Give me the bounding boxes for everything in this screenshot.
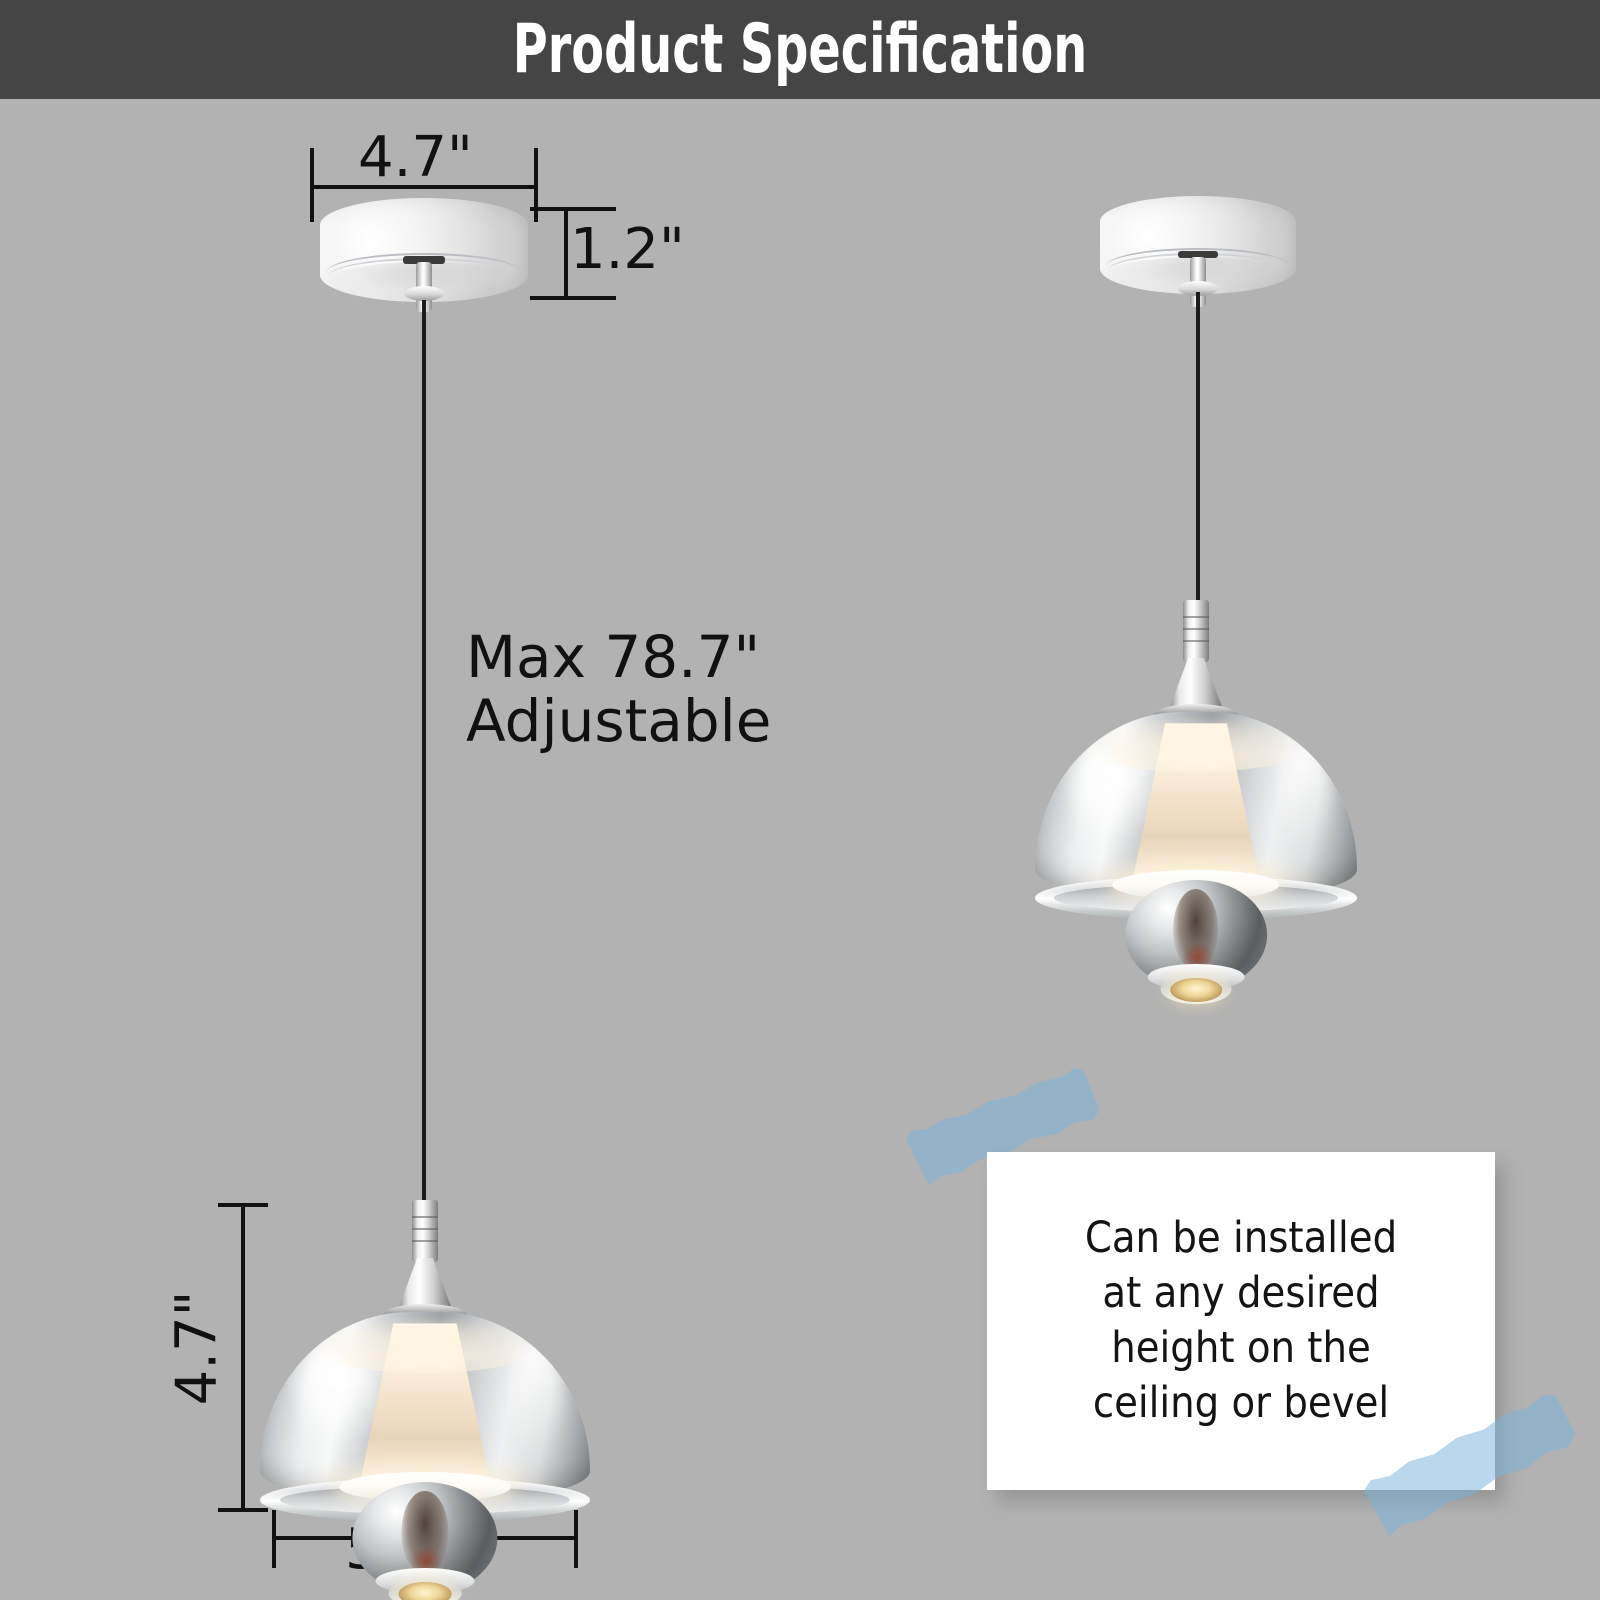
light-lens bbox=[399, 1582, 452, 1600]
dome-highlight-right bbox=[1283, 742, 1328, 859]
info-card: Can be installed at any desired height o… bbox=[987, 1152, 1495, 1490]
light-lens bbox=[1170, 978, 1222, 1002]
pendant-lamp-right bbox=[1035, 600, 1357, 918]
dome-highlight-left bbox=[1074, 750, 1126, 859]
dim-label-canopy-height: 1.2" bbox=[570, 222, 685, 278]
dim-line-shade-height bbox=[241, 1203, 245, 1512]
dim-tick-canopy-height-bottom bbox=[530, 296, 616, 300]
dim-label-canopy-width: 4.7" bbox=[358, 130, 473, 186]
info-card-text: Can be installed at any desired height o… bbox=[987, 1211, 1495, 1431]
page-title: Product Specification bbox=[176, 0, 1424, 99]
product-specification-page: Product Specification 4.7" 1.2" Max 78.7… bbox=[0, 0, 1600, 1600]
hanging-cord-left bbox=[422, 300, 426, 1220]
dim-label-drop-length-line1: Max 78.7" bbox=[466, 628, 760, 686]
dome-highlight-right bbox=[514, 1342, 560, 1460]
lamp-stem bbox=[1183, 600, 1209, 662]
dim-tick-canopy-height-top bbox=[530, 207, 616, 211]
ceiling-canopy-right bbox=[1100, 196, 1296, 294]
dim-line-canopy-height bbox=[564, 207, 568, 300]
lamp-stem bbox=[412, 1200, 438, 1262]
dim-label-drop-length-line2: Adjustable bbox=[466, 692, 771, 750]
pendant-lamp-left bbox=[260, 1200, 590, 1520]
dome-highlight-left bbox=[300, 1350, 353, 1460]
hanging-cord-right bbox=[1196, 292, 1200, 612]
ceiling-canopy-left bbox=[320, 198, 528, 302]
dim-label-shade-height: 4.7" bbox=[169, 1291, 225, 1406]
header-bar: Product Specification bbox=[0, 0, 1600, 99]
